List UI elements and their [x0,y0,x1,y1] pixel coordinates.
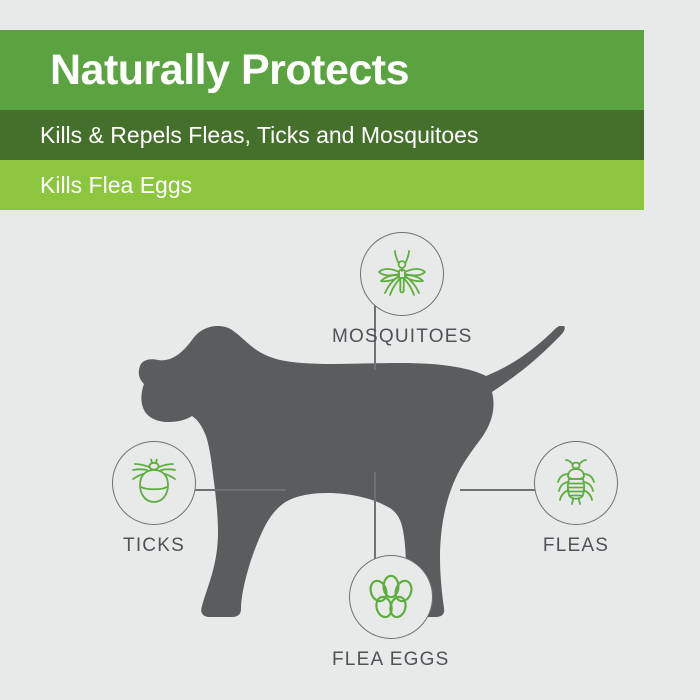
node-label-mosquitoes: MOSQUITOES [332,326,472,348]
page-title: Naturally Protects [50,49,409,92]
node-circle-ticks [112,441,196,525]
node-label-ticks: TICKS [123,535,185,557]
node-circle-fleas [534,441,618,525]
node-label-flea-eggs: FLEA EGGS [332,649,449,671]
header-band-tertiary: Kills Flea Eggs [0,160,644,210]
node-flea-eggs[interactable]: FLEA EGGS [332,555,449,671]
infographic-canvas: Naturally Protects Kills & Repels Fleas,… [0,0,700,700]
node-ticks[interactable]: TICKS [112,441,196,557]
node-fleas[interactable]: FLEAS [534,441,618,557]
node-mosquitoes[interactable]: MOSQUITOES [332,232,472,348]
node-circle-mosquitoes [360,232,444,316]
mosquito-icon [374,246,430,302]
node-label-fleas: FLEAS [543,535,609,557]
tick-icon [129,458,179,508]
header-band-secondary: Kills & Repels Fleas, Ticks and Mosquito… [0,110,644,160]
node-circle-flea-eggs [349,555,433,639]
flea-icon [550,457,602,509]
header-subtitle-primary: Kills & Repels Fleas, Ticks and Mosquito… [40,124,478,147]
header-subtitle-secondary: Kills Flea Eggs [40,174,192,197]
flea-eggs-icon [365,571,417,623]
header-band-primary: Naturally Protects [0,30,644,110]
